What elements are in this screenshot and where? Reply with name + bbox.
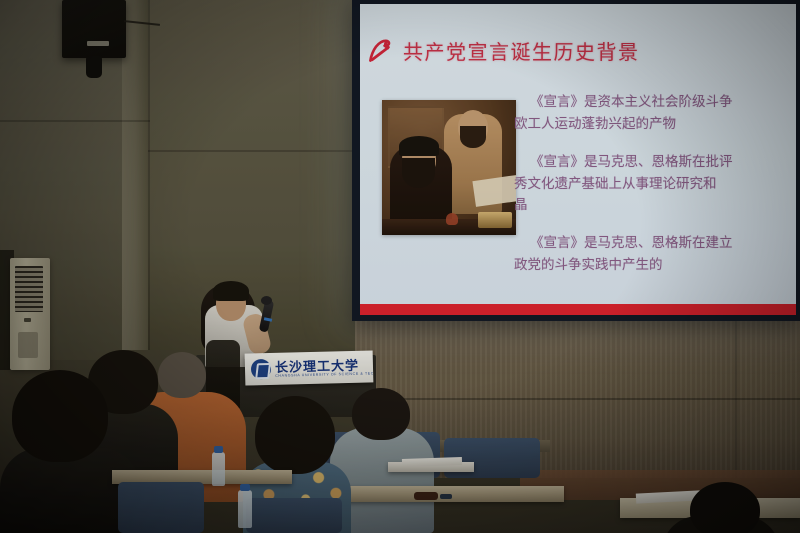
marx-engels-painting <box>382 100 516 235</box>
wall-seam <box>148 150 358 152</box>
ac-vent-grille <box>15 266 43 312</box>
ac-control-panel <box>18 332 38 358</box>
slide-paragraph-1: 《宣言》是资本主义社会阶级斗争 欧工人运动蓬勃兴起的产物 <box>530 92 796 136</box>
painting-lamp <box>446 213 458 225</box>
chair-back <box>118 482 204 533</box>
middle-wall-section <box>148 0 358 350</box>
painting-marx-beard <box>402 158 435 188</box>
wall-seam <box>0 120 150 122</box>
paragraph-2-line-1: 《宣言》是马克思、恩格斯在批评 <box>530 152 733 174</box>
screen-surface: 共产党宣言诞生历史背景 <box>360 4 796 315</box>
slide-paragraph-3: 《宣言》是马克思、恩格斯在建立 政党的斗争实践中产生的 <box>530 233 796 277</box>
audience-head <box>158 352 206 398</box>
paragraph-3-line-2: 政党的斗争实践中产生的 <box>514 255 796 277</box>
ac-indicator <box>24 318 31 322</box>
slide-paragraph-2: 《宣言》是马克思、恩格斯在批评 秀文化遗产基础上从事理论研究和 晶 <box>530 152 796 218</box>
paragraph-1-line-2: 欧工人运动蓬勃兴起的产物 <box>514 114 796 136</box>
presentation-slide: 共产党宣言诞生历史背景 <box>360 4 796 315</box>
bottle-cap <box>240 484 250 491</box>
audience-head <box>255 396 335 474</box>
ceiling-speaker-icon <box>62 0 126 58</box>
bottle-cap <box>214 446 223 453</box>
paragraph-3-line-1: 《宣言》是马克思、恩格斯在建立 <box>530 233 733 255</box>
university-seal-icon <box>251 359 271 379</box>
audience-head <box>690 482 760 533</box>
audience-head <box>352 388 410 440</box>
podium-nameplate: 长沙理工大学 CHANGSHA UNIVERSITY OF SCIENCE & … <box>245 350 374 385</box>
slide-title-row: 共产党宣言诞生历史背景 <box>366 36 640 65</box>
slide-title: 共产党宣言诞生历史背景 <box>403 36 640 65</box>
painting-books <box>478 212 512 228</box>
eyeglasses-icon <box>414 492 438 500</box>
pen-icon <box>440 494 452 499</box>
slide-body-text: 《宣言》是资本主义社会阶级斗争 欧工人运动蓬勃兴起的产物 《宣言》是马克思、恩格… <box>530 92 796 293</box>
air-conditioner-unit <box>10 258 50 370</box>
water-bottle <box>212 452 225 486</box>
audience-head <box>12 370 108 462</box>
paragraph-1-line-1: 《宣言》是资本主义社会阶级斗争 <box>530 92 733 114</box>
projection-screen: 共产党宣言诞生历史背景 <box>352 0 800 321</box>
painting-marx-hair <box>399 136 439 156</box>
paragraph-2-line-3: 晶 <box>514 195 796 217</box>
slide-footer-band <box>360 304 796 315</box>
hammer-and-sickle-icon <box>366 37 394 65</box>
lecture-hall-photo: 共产党宣言诞生历史背景 <box>0 0 800 533</box>
painting-engels-beard <box>460 126 486 148</box>
water-bottle <box>238 490 252 528</box>
speaker-mount <box>86 56 102 78</box>
wall-seam <box>148 0 150 350</box>
wood-panel-seam <box>355 398 800 400</box>
wood-panel-seam <box>735 318 737 478</box>
painting-manuscript <box>472 175 516 207</box>
speaker-hair-top <box>213 281 249 301</box>
paragraph-2-line-2: 秀文化遗产基础上从事理论研究和 <box>514 174 796 196</box>
microphone-capsule <box>261 296 272 305</box>
speaker-badge <box>87 41 109 46</box>
chair-back <box>246 498 342 533</box>
